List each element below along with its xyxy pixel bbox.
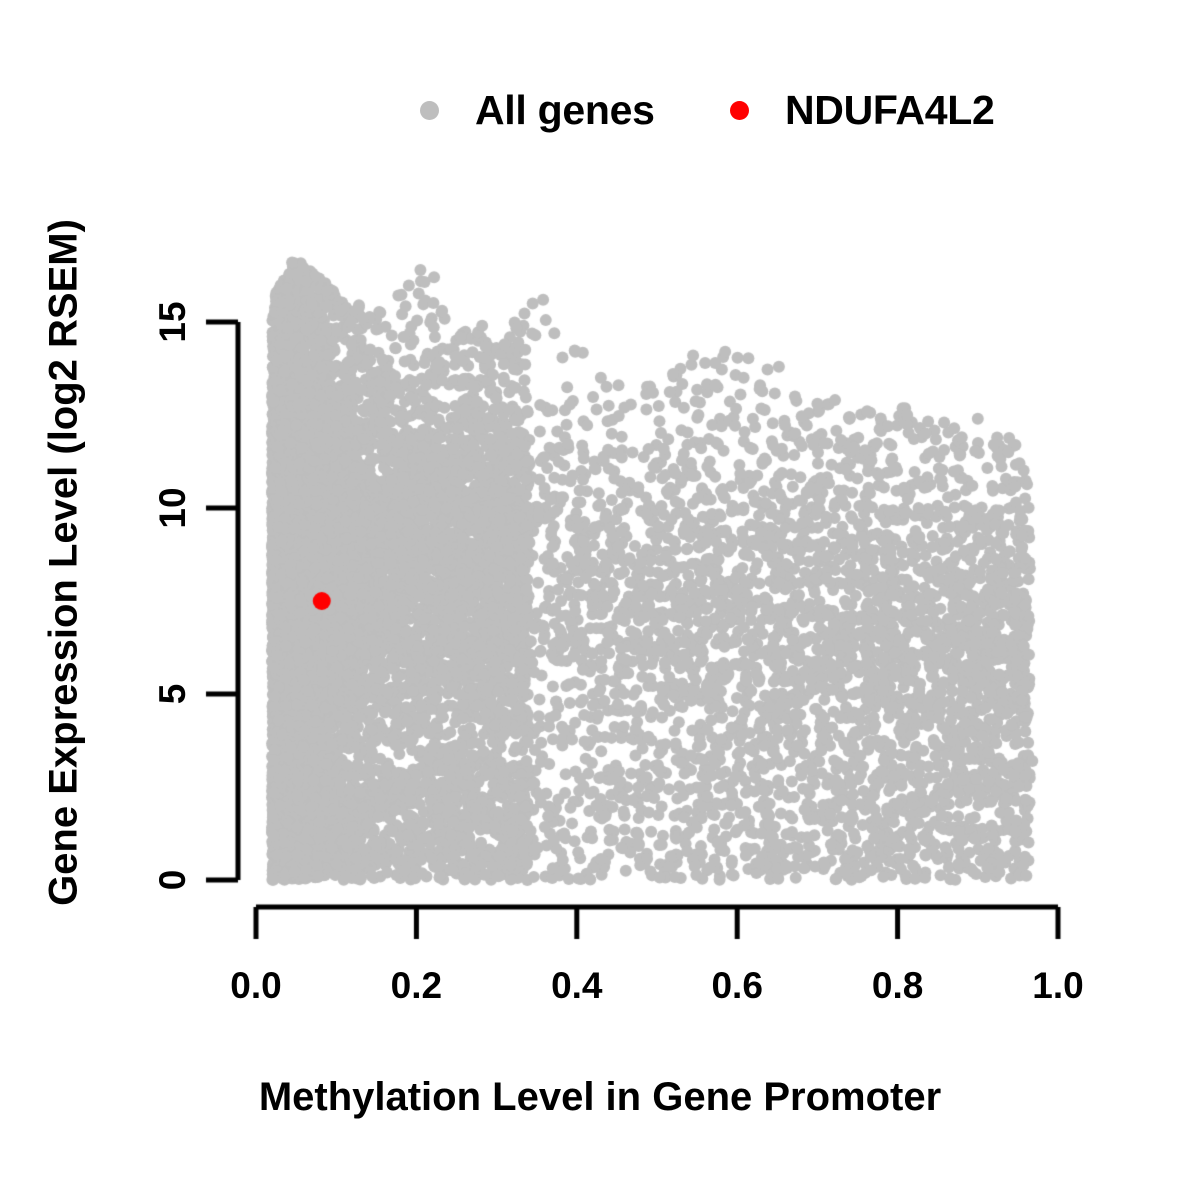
x-tick-0.0: 0.0	[186, 965, 326, 1007]
x-tick-0.8: 0.8	[828, 965, 968, 1007]
y-tick-5: 5	[151, 659, 195, 729]
x-tick-0.2: 0.2	[346, 965, 486, 1007]
plot-canvas	[0, 0, 1200, 1200]
y-tick-10: 10	[151, 473, 195, 543]
x-axis-label: Methylation Level in Gene Promoter	[0, 1075, 1200, 1120]
x-tick-0.6: 0.6	[667, 965, 807, 1007]
x-tick-0.4: 0.4	[507, 965, 647, 1007]
scatter-plot-figure: All genes NDUFA4L2 051015 0.00.20.40.60.…	[0, 0, 1200, 1200]
y-tick-0: 0	[151, 845, 195, 915]
y-axis-label: Gene Expression Level (log2 RSEM)	[42, 153, 87, 973]
y-tick-15: 15	[151, 287, 195, 357]
x-tick-1.0: 1.0	[988, 965, 1128, 1007]
